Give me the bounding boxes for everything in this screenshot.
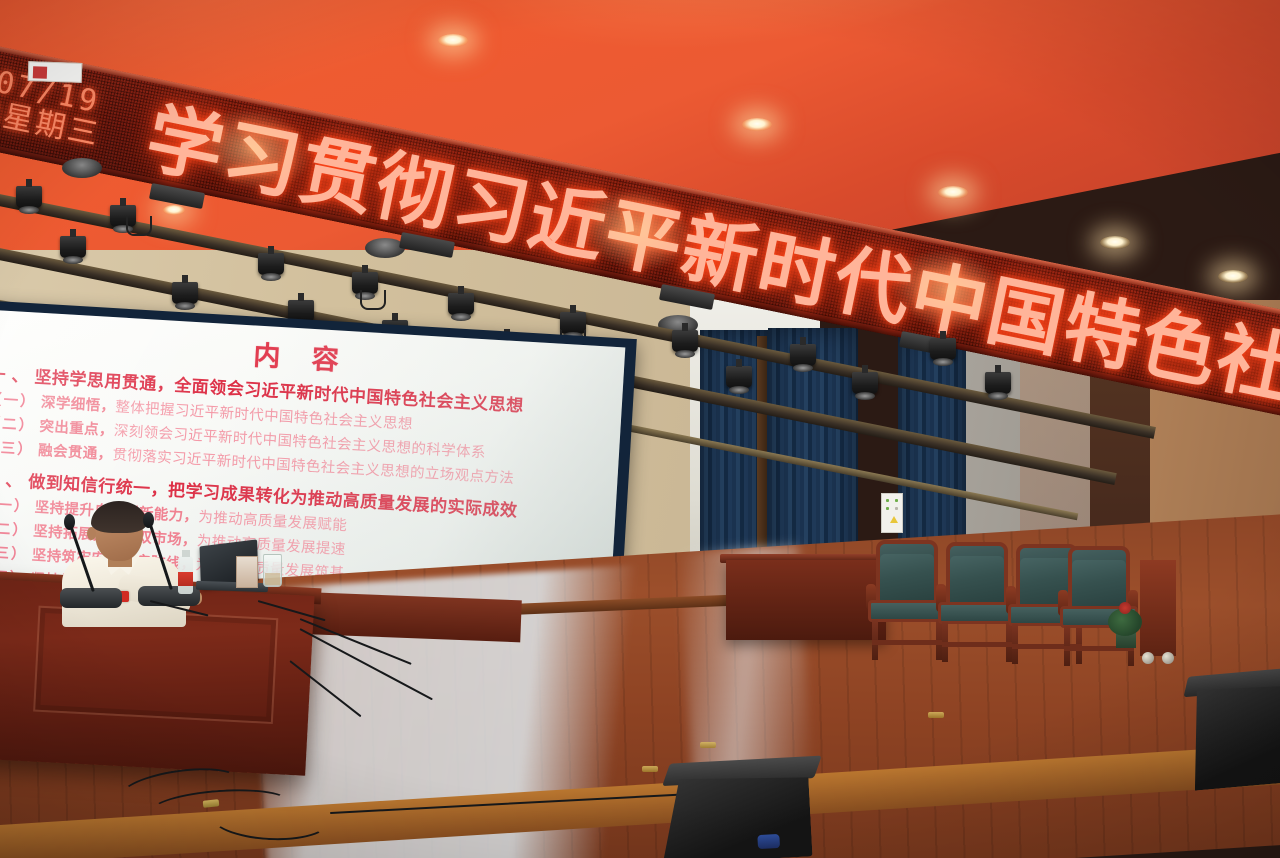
chair-backrest <box>1068 546 1130 610</box>
chair-stretcher <box>942 642 1012 647</box>
floor-insert-1 <box>700 742 716 748</box>
downlight-1 <box>438 34 468 47</box>
monitor-front-grille <box>1186 682 1280 791</box>
speaker-ear <box>87 527 96 540</box>
cart-caster-right <box>1162 652 1174 664</box>
slide-item-label: （一） <box>0 392 37 411</box>
downlight-3 <box>938 186 968 199</box>
microphone-capsule-right <box>143 512 154 528</box>
speaker-hair <box>91 501 147 533</box>
par-light-15 <box>790 344 816 366</box>
downlight-6 <box>163 205 185 215</box>
downlight-2 <box>742 118 772 131</box>
cart-caster-left <box>1142 652 1154 664</box>
par-light-18 <box>985 372 1011 394</box>
chair-seat <box>938 602 1016 624</box>
water-bottle[interactable] <box>178 556 193 594</box>
slide-item-lead: 融会贯通， <box>38 443 113 463</box>
par-light-1 <box>16 186 42 208</box>
slide-item-lead: 突出重点， <box>39 419 114 439</box>
bottle-cap <box>182 550 190 557</box>
stage-monitor-right <box>1185 667 1280 796</box>
lectern[interactable] <box>726 560 886 640</box>
slide-item-label: （三） <box>0 440 34 459</box>
chair-stretcher <box>872 640 942 645</box>
ceiling-speaker-2 <box>365 238 405 258</box>
slide-heading-1-number: 一、 <box>0 365 35 387</box>
microphone-capsule-left <box>64 514 75 530</box>
stage-monitor-center <box>657 756 822 858</box>
auditorium-scene: 8/07/19 :53星期三 学习贯彻习近平新时代中国特色社会主义思想主题教育专… <box>0 0 1280 858</box>
water-glass[interactable] <box>263 554 282 587</box>
wall-switch-panel[interactable] <box>881 493 903 533</box>
name-plate <box>236 556 258 588</box>
chair-seat <box>868 600 946 622</box>
floor-insert-2 <box>928 712 944 718</box>
par-light-16 <box>852 372 878 394</box>
potted-plant <box>1108 608 1142 648</box>
downlight-5 <box>1218 270 1248 283</box>
monitor-connector <box>757 834 780 849</box>
par-light-4 <box>172 282 198 304</box>
av-equipment-cart[interactable] <box>1140 560 1176 656</box>
slide-heading-2-number: 二、 <box>0 470 29 492</box>
light-cable-bundle-1 <box>126 216 152 236</box>
slide-item-lead: 深学细悟， <box>40 395 115 415</box>
bottle-label <box>178 572 193 586</box>
stage-chair-2[interactable] <box>938 542 1016 662</box>
par-light-9 <box>448 293 474 315</box>
ceiling-speaker-1 <box>62 158 102 178</box>
paper-red-mark <box>33 66 47 78</box>
warning-triangle-icon <box>890 516 898 523</box>
podium-paper-card <box>28 61 83 83</box>
slide-item-label: （一） <box>0 497 31 516</box>
par-light-2 <box>60 236 86 258</box>
stage-chair-1[interactable] <box>868 540 946 660</box>
floor-insert-3 <box>642 766 658 772</box>
slide-item-label: （二） <box>0 416 36 435</box>
chair-backrest <box>946 542 1008 606</box>
plant-flower <box>1119 602 1131 614</box>
light-cable-bundle-2 <box>360 290 386 310</box>
par-light-13 <box>672 330 698 352</box>
par-light-5 <box>258 253 284 275</box>
par-light-14 <box>726 366 752 388</box>
slide-item-label: （三） <box>0 544 28 563</box>
monitor-front-grille <box>658 772 812 858</box>
par-light-17 <box>930 338 956 360</box>
downlight-4 <box>1100 236 1130 249</box>
slide-item-label: （二） <box>0 521 29 540</box>
chair-backrest <box>876 540 938 604</box>
